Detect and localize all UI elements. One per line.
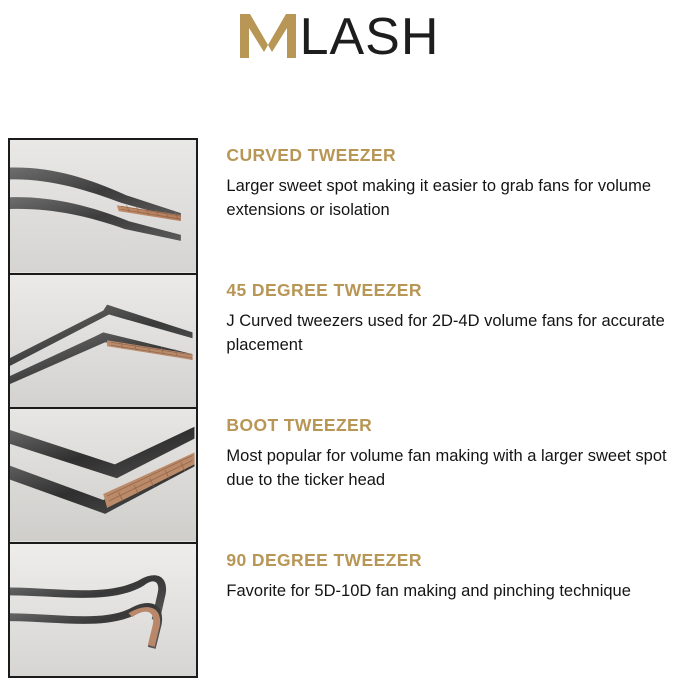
logo-wordmark: LASH (300, 11, 440, 63)
curved-tweezer-photo (10, 140, 196, 275)
product-description: Most popular for volume fan making with … (226, 445, 673, 492)
boot-tweezer-photo (10, 409, 196, 544)
product-entry-90-degree-tweezer: 90 DEGREE TWEEZER Favorite for 5D-10D fa… (226, 543, 673, 678)
45-degree-tweezer-illustration (10, 275, 196, 408)
product-description: Favorite for 5D-10D fan making and pinch… (226, 580, 673, 603)
product-title: CURVED TWEEZER (226, 146, 673, 165)
product-image-column (8, 138, 198, 678)
product-entry-45-degree-tweezer: 45 DEGREE TWEEZER J Curved tweezers used… (226, 273, 673, 408)
logo-lockup: LASH (240, 10, 440, 62)
m-monogram-icon (240, 12, 296, 60)
product-entry-boot-tweezer: BOOT TWEEZER Most popular for volume fan… (226, 408, 673, 543)
product-title: 90 DEGREE TWEEZER (226, 551, 673, 570)
content-area: CURVED TWEEZER Larger sweet spot making … (0, 138, 679, 678)
product-text-column: CURVED TWEEZER Larger sweet spot making … (198, 138, 679, 678)
product-description: Larger sweet spot making it easier to gr… (226, 175, 673, 222)
product-title: BOOT TWEEZER (226, 416, 673, 435)
boot-tweezer-illustration (10, 409, 196, 542)
90-degree-tweezer-photo (10, 544, 196, 677)
product-description: J Curved tweezers used for 2D-4D volume … (226, 310, 673, 357)
product-infographic-page: LASH (0, 0, 679, 681)
90-degree-tweezer-illustration (10, 544, 196, 677)
product-entry-curved-tweezer: CURVED TWEEZER Larger sweet spot making … (226, 138, 673, 273)
45-degree-tweezer-photo (10, 275, 196, 410)
curved-tweezer-illustration (10, 140, 196, 273)
brand-logo: LASH (0, 4, 679, 68)
product-title: 45 DEGREE TWEEZER (226, 281, 673, 300)
